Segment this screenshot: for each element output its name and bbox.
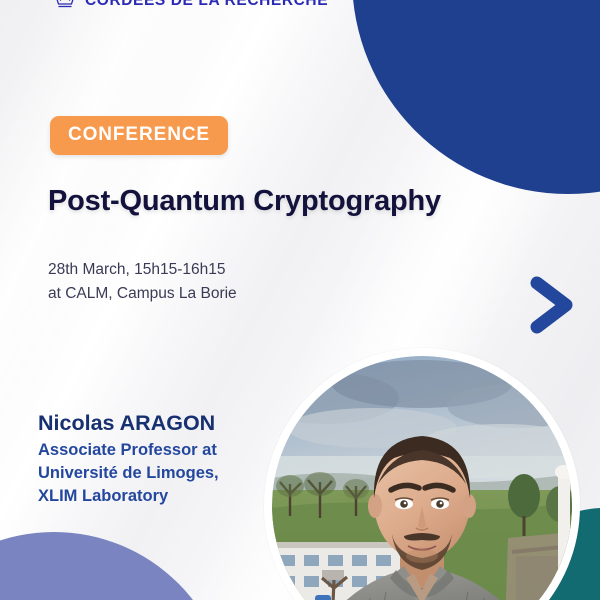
speaker-info: Nicolas ARAGON Associate Professor at Un… (38, 410, 286, 508)
speaker-role: Associate Professor at Université de Lim… (38, 439, 286, 507)
chevron-right-icon (524, 276, 580, 334)
speaker-role-line-2: Université de Limoges, (38, 462, 286, 485)
organization-logo: CORDEES DE LA RECHERCHE (52, 0, 328, 12)
speaker-role-line-3: XLIM Laboratory (38, 485, 286, 508)
event-location: at CALM, Campus La Borie (48, 282, 378, 306)
speaker-role-line-1: Associate Professor at (38, 439, 286, 462)
conference-badge: CONFERENCE (50, 116, 228, 155)
conference-badge-label: CONFERENCE (68, 124, 210, 145)
event-date-time: 28th March, 15h15-16h15 (48, 258, 378, 282)
speaker-name: Nicolas ARAGON (38, 410, 286, 436)
poster-title: Post-Quantum Cryptography (48, 185, 548, 218)
conference-poster: CORDEES DE LA RECHERCHE CONFERENCE Post-… (0, 0, 600, 600)
logo-text: CORDEES DE LA RECHERCHE (85, 0, 328, 9)
event-details: 28th March, 15h15-16h15 at CALM, Campus … (48, 258, 378, 306)
crown-emblem-icon (52, 0, 78, 12)
